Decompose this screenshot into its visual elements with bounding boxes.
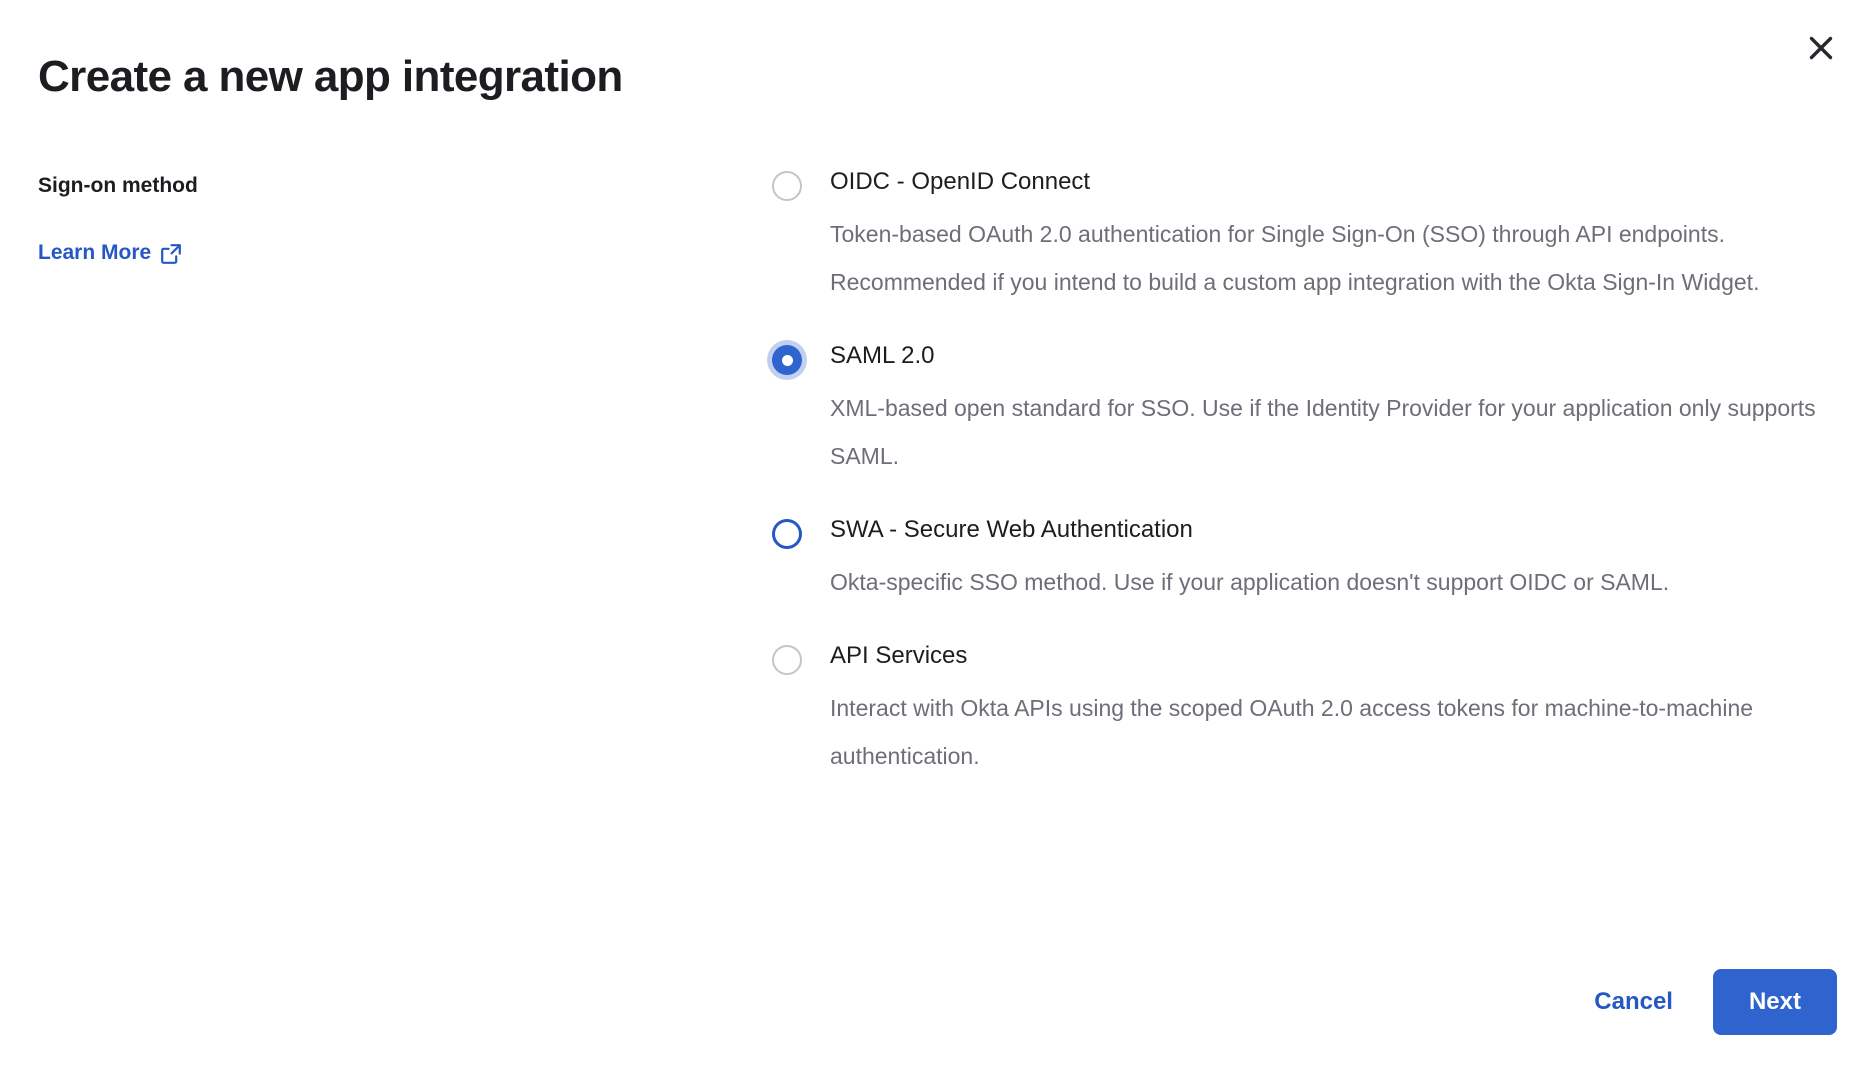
radio-description-api-services: Interact with Okta APIs using the scoped… (830, 684, 1822, 780)
learn-more-label: Learn More (38, 239, 151, 267)
radio-option-oidc[interactable]: OIDC - OpenID Connect Token-based OAuth … (762, 166, 1822, 306)
dialog-footer: Cancel Next (1588, 969, 1837, 1035)
radio-label-oidc: OIDC - OpenID Connect (830, 166, 1822, 197)
page-title: Create a new app integration (38, 50, 623, 104)
radio-description-oidc: Token-based OAuth 2.0 authentication for… (830, 210, 1822, 306)
radio-label-swa: SWA - Secure Web Authentication (830, 514, 1822, 545)
sign-on-method-label: Sign-on method (38, 172, 558, 200)
radio-option-api-services[interactable]: API Services Interact with Okta APIs usi… (762, 640, 1822, 780)
radio-option-swa[interactable]: SWA - Secure Web Authentication Okta-spe… (762, 514, 1822, 606)
radio-indicator-saml[interactable] (772, 345, 802, 375)
radio-indicator-api-services[interactable] (772, 645, 802, 675)
radio-label-saml: SAML 2.0 (830, 340, 1822, 371)
learn-more-link[interactable]: Learn More (38, 239, 182, 267)
close-icon (1808, 35, 1834, 61)
radio-option-saml[interactable]: SAML 2.0 XML-based open standard for SSO… (762, 340, 1822, 480)
next-button[interactable]: Next (1713, 969, 1837, 1035)
create-app-integration-dialog: Create a new app integration Sign-on met… (0, 0, 1873, 1075)
radio-description-saml: XML-based open standard for SSO. Use if … (830, 384, 1822, 480)
radio-description-swa: Okta-specific SSO method. Use if your ap… (830, 558, 1822, 606)
close-button[interactable] (1795, 22, 1847, 74)
radio-label-api-services: API Services (830, 640, 1822, 671)
radio-indicator-swa[interactable] (772, 519, 802, 549)
cancel-button[interactable]: Cancel (1588, 976, 1679, 1028)
external-link-icon (160, 242, 182, 265)
sign-on-method-left-column: Sign-on method Learn More (38, 172, 558, 267)
sign-on-method-radio-group[interactable]: OIDC - OpenID Connect Token-based OAuth … (762, 166, 1822, 780)
radio-indicator-oidc[interactable] (772, 171, 802, 201)
